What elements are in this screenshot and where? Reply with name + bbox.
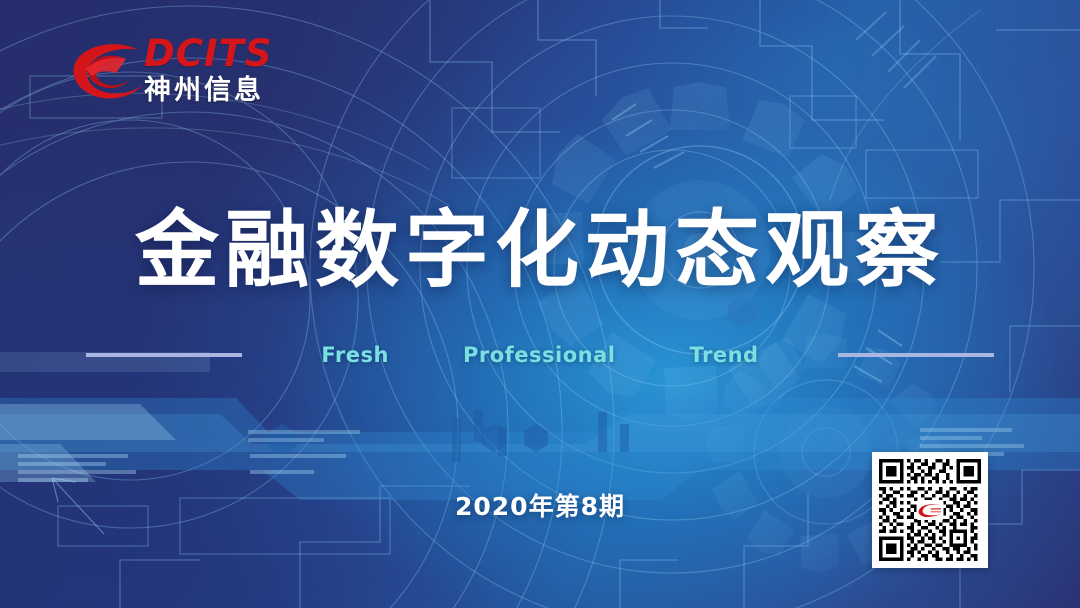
brand-latin-name: DCITS [144,35,273,73]
poster-canvas: DCITS 神州信息 金融数字化动态观察 Fresh Professional … [0,0,1080,608]
brand-logo: DCITS 神州信息 [68,33,298,117]
subtitle-word-trend: Trend [652,343,795,367]
subtitle-rule-left [86,353,242,357]
subtitle-rule-right [838,353,994,357]
brand-logo-text: DCITS 神州信息 [144,35,273,106]
subtitle-row: Fresh Professional Trend [0,340,1080,370]
brand-chinese-name: 神州信息 [144,75,273,106]
dcits-swirl-icon [68,39,144,105]
subtitle-word-professional: Professional [426,343,653,367]
subtitle-word-fresh: Fresh [284,343,426,367]
dcits-swirl-icon-small [917,500,944,520]
page-title: 金融数字化动态观察 [0,183,1080,304]
qr-center-logo [917,500,944,520]
wechat-qr-code[interactable] [872,452,988,568]
